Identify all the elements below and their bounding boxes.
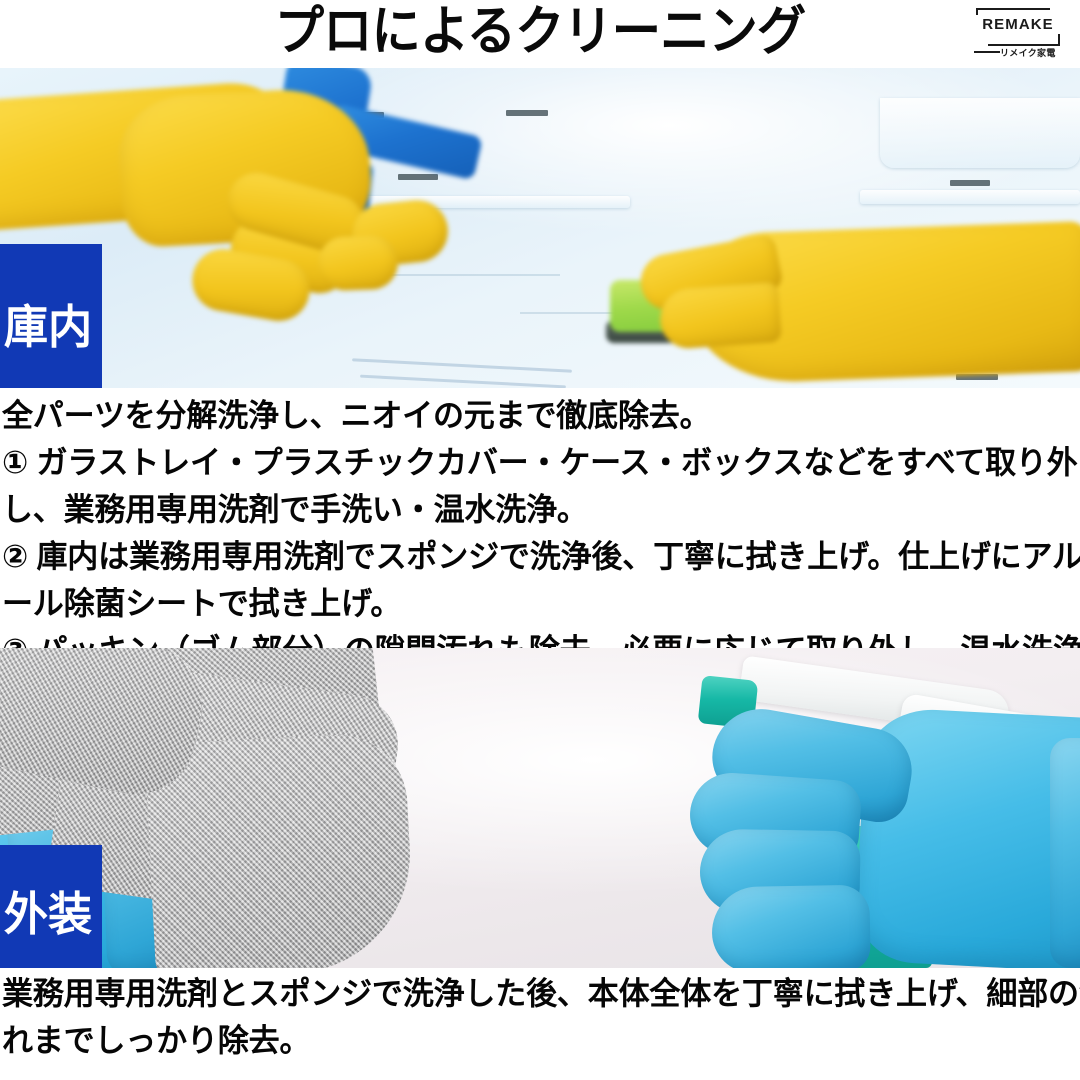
fridge-door-tab	[506, 110, 548, 116]
yellow-glove-finger	[317, 235, 399, 292]
header: プロによるクリーニング REMAKE リメイク家電	[0, 0, 1080, 68]
section-badge-interior: 庫内	[0, 244, 102, 388]
section-badge-exterior-label: 外装	[0, 877, 92, 937]
blue-glove-wrist	[1050, 738, 1080, 968]
fridge-door-tab	[950, 180, 990, 186]
logo-subtext: リメイク家電	[1000, 46, 1070, 59]
yellow-glove-finger	[658, 282, 782, 350]
section-badge-exterior: 外装	[0, 845, 102, 968]
logo-wordmark: REMAKE	[972, 15, 1064, 34]
description-line: し、業務用専用洗剤で手洗い・温水洗浄。	[0, 486, 1064, 533]
description-line: 業務用専用洗剤とスポンジで洗浄した後、本体全体を丁寧に拭き上げ、細部の汚	[0, 970, 1064, 1017]
page-title: プロによるクリーニング	[38, 0, 1042, 66]
fridge-door-bin	[880, 98, 1080, 168]
description-line: れまでしっかり除去。	[0, 1017, 1064, 1064]
blue-glove-finger	[711, 885, 870, 968]
description-line: ② 庫内は業務用専用洗剤でスポンジで洗浄後、丁寧に拭き上げ。仕上げにアルコ	[0, 533, 1064, 580]
fridge-shelf	[860, 190, 1080, 204]
cleaning-service-infographic: プロによるクリーニング REMAKE リメイク家電	[0, 0, 1080, 1080]
description-line: 全パーツを分解洗浄し、ニオイの元まで徹底除去。	[0, 392, 1064, 439]
section-badge-interior-label: 庫内	[0, 282, 92, 350]
exterior-description: 業務用専用洗剤とスポンジで洗浄した後、本体全体を丁寧に拭き上げ、細部の汚 れまで…	[0, 970, 1080, 1080]
fridge-door-tab	[398, 174, 438, 180]
description-line: ① ガラストレイ・プラスチックカバー・ケース・ボックスなどをすべて取り外	[0, 439, 1064, 486]
photo-exterior-cleaning	[0, 648, 1080, 968]
interior-description: 全パーツを分解洗浄し、ニオイの元まで徹底除去。 ① ガラストレイ・プラスチックカ…	[0, 392, 1080, 644]
photo-fridge-interior-cleaning	[0, 68, 1080, 388]
description-line: ール除菌シートで拭き上げ。	[0, 580, 1064, 627]
remake-logo: REMAKE リメイク家電	[972, 6, 1070, 60]
logo-underline	[974, 51, 1000, 53]
